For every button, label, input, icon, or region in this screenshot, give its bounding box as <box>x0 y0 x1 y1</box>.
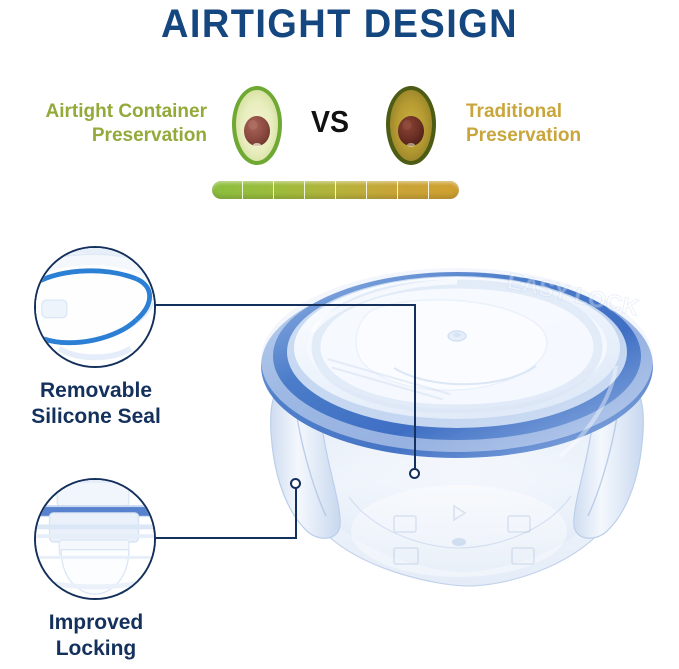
avocado-half-fresh-icon <box>226 84 288 168</box>
freshness-bar-segment <box>398 181 429 199</box>
airtight-preservation-label: Airtight Container Preservation <box>2 100 207 149</box>
infographic-canvas: AIRTIGHT DESIGN Airtight Container Prese… <box>0 0 679 669</box>
caption-improved-locking: Improved Locking <box>0 610 192 663</box>
leader-line-seal-vertical <box>414 304 416 474</box>
locking-clip-detail-icon <box>36 480 154 598</box>
leader-line-lock-horizontal <box>155 537 297 539</box>
caption-seal-line1: Removable <box>0 378 192 404</box>
leader-endpoint-lock <box>290 478 301 489</box>
callout-improved-locking[interactable] <box>34 478 156 600</box>
leader-line-lock-vertical <box>295 484 297 539</box>
caption-lock-line1: Improved <box>0 610 192 636</box>
lid-silicone-seal-detail-icon <box>36 248 154 366</box>
caption-seal-line2: Silicone Seal <box>0 404 192 430</box>
freshness-bar-segment <box>243 181 274 199</box>
airtight-preservation-label-line1: Airtight Container <box>2 100 207 124</box>
caption-removable-silicone-seal: Removable Silicone Seal <box>0 378 192 431</box>
product-image-container: EASY LOCK <box>216 248 668 600</box>
leader-endpoint-seal <box>409 468 420 479</box>
vs-label: VS <box>300 104 361 140</box>
avocado-half-browned-icon <box>380 84 442 168</box>
freshness-bar-segment <box>212 181 243 199</box>
traditional-preservation-label-line1: Traditional <box>466 100 676 124</box>
caption-lock-line2: Locking <box>0 636 192 662</box>
traditional-preservation-label-line2: Preservation <box>466 124 676 148</box>
freshness-gradient-bar <box>212 181 459 199</box>
freshness-bar-segment <box>305 181 336 199</box>
leader-line-seal-horizontal <box>155 304 416 306</box>
freshness-bar-segment <box>367 181 398 199</box>
freshness-bar-segment <box>274 181 305 199</box>
traditional-preservation-label: Traditional Preservation <box>466 100 676 149</box>
freshness-bar-segment <box>336 181 367 199</box>
airtight-preservation-label-line2: Preservation <box>2 124 207 148</box>
freshness-bar-segment <box>429 181 459 199</box>
callout-removable-silicone-seal[interactable] <box>34 246 156 368</box>
page-title: AIRTIGHT DESIGN <box>17 2 662 47</box>
